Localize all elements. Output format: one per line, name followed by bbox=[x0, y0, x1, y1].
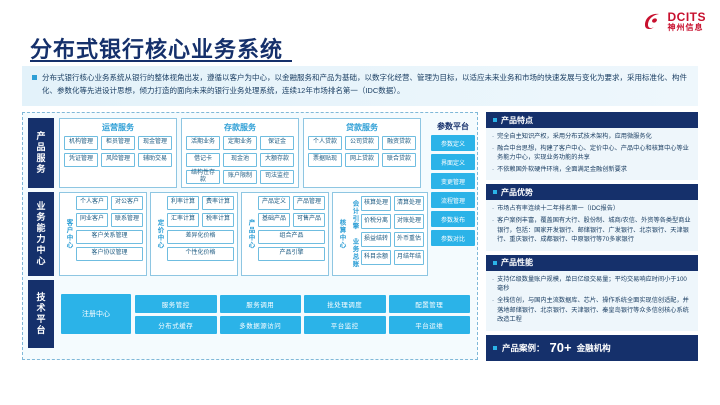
sidebar-item-product-service[interactable]: 产品服务 bbox=[28, 118, 54, 188]
swirl-logo-icon bbox=[642, 10, 664, 32]
panel-operations: 运营服务 机构管理 柜员管理 现金管理 凭证管理 风险管理 辅助交易 bbox=[59, 118, 177, 188]
case-label: 产品案例： bbox=[502, 342, 545, 354]
group-accounting-center: 核算中心 会计引擎 业务总账 核算处理 清算处理 价税分离 对账处理 损益结转 … bbox=[332, 192, 428, 276]
panel-title-deposit: 存款服务 bbox=[186, 122, 294, 133]
vtag-customer-center: 客户中心 bbox=[63, 196, 73, 272]
slide-root: DCITS 神州信息 分布式银行核心业务系统 分布式银行核心业务系统从银行的整体… bbox=[0, 0, 720, 405]
tech-chip[interactable]: 服务调用 bbox=[220, 295, 302, 313]
chip-item[interactable]: 机构管理 bbox=[64, 136, 98, 150]
vtag-accounting-center: 核算中心 bbox=[336, 196, 346, 272]
chip-item[interactable]: 个性化价格 bbox=[167, 247, 234, 261]
param-chip[interactable]: 变更管理 bbox=[431, 173, 475, 189]
sidebar-label-2: 技术平台 bbox=[35, 292, 48, 336]
customer-chip-grid: 个人客户 对公客户 同业客户 联系管理 客户关系管理 客户协议管理 bbox=[76, 196, 143, 272]
chip-item[interactable]: 定期业务 bbox=[223, 136, 257, 150]
param-chip[interactable]: 参数对比 bbox=[431, 230, 475, 246]
chip-item[interactable]: 网上贷款 bbox=[345, 153, 379, 167]
highlights-column: 产品特点 ·完全自主知识产权，采用分布式技术架构，应用微服务化 ·融合中台思想，… bbox=[486, 112, 698, 360]
chip-item[interactable]: 清算处理 bbox=[394, 196, 424, 211]
logo-en-text: DCITS bbox=[668, 11, 707, 23]
card-product-advantages: 产品优势 ·市场占有率连续十二年排名第一（IDC报告） ·客户案例丰富，覆盖国有… bbox=[486, 184, 698, 250]
chip-item[interactable]: 联合贷款 bbox=[382, 153, 416, 167]
bullet-text: 市场占有率连续十二年排名第一（IDC报告） bbox=[497, 204, 619, 214]
chip-item[interactable]: 风险管理 bbox=[101, 153, 135, 167]
chip-item[interactable]: 联系管理 bbox=[111, 213, 143, 227]
bullet-text: 融合中台思想，构建了客户中心、定价中心、产品中心和核算中心等业务能力中心，实现业… bbox=[497, 144, 692, 163]
tech-chip[interactable]: 多数据源访问 bbox=[220, 316, 302, 334]
chip-item[interactable]: 费率计算 bbox=[202, 196, 234, 210]
vtag-pricing-center: 定价中心 bbox=[154, 196, 164, 272]
panel-loan: 贷款服务 个人贷款 公司贷款 融资贷款 票据贴现 网上贷款 联合贷款 bbox=[303, 118, 421, 188]
capability-center-row: 业务能力中心 客户中心 个人客户 对公客户 同业客户 联系管理 客户关系管理 客… bbox=[28, 192, 472, 276]
card-header: 产品优势 bbox=[486, 184, 698, 200]
sidebar-label-0: 产品服务 bbox=[35, 131, 48, 175]
case-suffix: 金融机构 bbox=[577, 342, 611, 354]
bullet-square-icon bbox=[493, 261, 497, 265]
chip-item[interactable]: 价税分离 bbox=[361, 214, 391, 229]
group-product-center: 产品中心 产品定义 产品管理 基础产品 可售产品 组合产品 产品引擎 bbox=[241, 192, 329, 276]
bullet-item: ·不依赖国外软硬件环境，全面满足金融创新要求 bbox=[492, 165, 692, 175]
product-center-chip-grid: 产品定义 产品管理 基础产品 可售产品 组合产品 产品引擎 bbox=[258, 196, 325, 272]
bullet-item: ·市场占有率连续十二年排名第一（IDC报告） bbox=[492, 204, 692, 214]
chip-item[interactable]: 科目余额 bbox=[361, 250, 391, 265]
tech-chip[interactable]: 平台运维 bbox=[389, 316, 471, 334]
chip-item[interactable]: 融资贷款 bbox=[382, 136, 416, 150]
chip-item[interactable]: 基础产品 bbox=[258, 213, 290, 227]
chip-item[interactable]: 凭证管理 bbox=[64, 153, 98, 167]
tech-chip[interactable]: 平台监控 bbox=[304, 316, 386, 334]
chip-item[interactable]: 可售产品 bbox=[293, 213, 325, 227]
card-title: 产品优势 bbox=[501, 187, 533, 198]
bullet-square-icon bbox=[32, 75, 37, 80]
pricing-chip-grid: 利率计算 费率计算 汇率计算 税率计算 差异化价格 个性化价格 bbox=[167, 196, 234, 272]
dot-icon: · bbox=[492, 204, 494, 214]
chip-item[interactable]: 借记卡 bbox=[186, 153, 220, 167]
operations-chip-grid: 机构管理 柜员管理 现金管理 凭证管理 风险管理 辅助交易 bbox=[64, 136, 172, 167]
chip-item[interactable]: 产品引擎 bbox=[258, 247, 325, 261]
logo-cn-text: 神州信息 bbox=[668, 24, 707, 32]
vtag-general-ledger: 业务总账 bbox=[349, 235, 359, 271]
tech-platform-row: 技术平台 注册中心 服务管控 服务调用 批处理调度 配置管理 分布式缓存 多数据… bbox=[28, 280, 472, 348]
bullet-item: ·支持亿级数量账户规模，单日亿级交易量；平均交易响应时间小于100毫秒 bbox=[492, 275, 692, 294]
chip-item[interactable]: 汇率计算 bbox=[167, 213, 199, 227]
bullet-item: ·客户案例丰富，覆盖国有大行、股份制、城商/农信、外资等各类型商业银行，包括：国… bbox=[492, 216, 692, 245]
tech-platform-panel: 注册中心 服务管控 服务调用 批处理调度 配置管理 分布式缓存 多数据源访问 平… bbox=[59, 280, 472, 348]
card-header: 产品特点 bbox=[486, 112, 698, 128]
chip-item[interactable]: 对账处理 bbox=[394, 214, 424, 229]
chip-item[interactable]: 差异化价格 bbox=[167, 230, 234, 244]
intro-banner: 分布式银行核心业务系统从银行的整体视角出发，遵循以客户为中心，以金融服务和产品为… bbox=[22, 66, 698, 106]
case-number: 70+ bbox=[550, 340, 572, 355]
chip-item[interactable]: 辅助交易 bbox=[138, 153, 172, 167]
bullet-item: ·全栈信创，与国内主流数据库、芯片、操作系统全面实现信创适配，并落地邮储银行、北… bbox=[492, 296, 692, 325]
title-underline bbox=[30, 60, 292, 62]
chip-item[interactable]: 司法监控 bbox=[260, 170, 294, 184]
chip-item[interactable]: 客户协议管理 bbox=[76, 247, 143, 261]
panel-title-operations: 运营服务 bbox=[64, 122, 172, 133]
param-platform-title: 参数平台 bbox=[437, 121, 469, 132]
bullet-text: 全栈信创，与国内主流数据库、芯片、操作系统全面实现信创适配，并落地邮储银行、北京… bbox=[497, 296, 692, 325]
dot-icon: · bbox=[492, 296, 494, 325]
chip-item[interactable]: 月结年结 bbox=[394, 250, 424, 265]
accounting-chip-grid: 核算处理 清算处理 价税分离 对账处理 损益结转 外币重估 科目余额 月结年结 bbox=[361, 196, 424, 272]
chip-item[interactable]: 外币重估 bbox=[394, 232, 424, 247]
bullet-item: ·融合中台思想，构建了客户中心、定价中心、产品中心和核算中心等业务能力中心，实现… bbox=[492, 144, 692, 163]
card-header: 产品性能 bbox=[486, 255, 698, 271]
panel-title-loan: 贷款服务 bbox=[308, 122, 416, 133]
param-chip[interactable]: 参数发布 bbox=[431, 211, 475, 227]
card-title: 产品性能 bbox=[501, 257, 533, 268]
bullet-square-icon bbox=[493, 118, 497, 122]
card-product-features: 产品特点 ·完全自主知识产权，采用分布式技术架构，应用微服务化 ·融合中台思想，… bbox=[486, 112, 698, 180]
intro-text: 分布式银行核心业务系统从银行的整体视角出发，遵循以客户为中心，以金融服务和产品为… bbox=[42, 71, 690, 101]
deposit-chip-grid: 活期业务 定期业务 保证金 借记卡 现金池 大额存款 结构性存款 账户限制 司法… bbox=[186, 136, 294, 184]
chip-item[interactable]: 产品定义 bbox=[258, 196, 290, 210]
param-chip[interactable]: 流程管理 bbox=[431, 192, 475, 208]
register-center-block[interactable]: 注册中心 bbox=[61, 294, 131, 334]
brand-logo: DCITS 神州信息 bbox=[642, 10, 707, 32]
chip-item[interactable]: 现金管理 bbox=[138, 136, 172, 150]
dot-icon: · bbox=[492, 275, 494, 294]
bullet-square-icon bbox=[493, 346, 497, 350]
dot-icon: · bbox=[492, 165, 494, 175]
loan-chip-grid: 个人贷款 公司贷款 融资贷款 票据贴现 网上贷款 联合贷款 bbox=[308, 136, 416, 167]
card-body: ·市场占有率连续十二年排名第一（IDC报告） ·客户案例丰富，覆盖国有大行、股份… bbox=[486, 200, 698, 250]
group-customer-center: 客户中心 个人客户 对公客户 同业客户 联系管理 客户关系管理 客户协议管理 bbox=[59, 192, 147, 276]
param-chip[interactable]: 界面定义 bbox=[431, 154, 475, 170]
dot-icon: · bbox=[492, 216, 494, 245]
dot-icon: · bbox=[492, 144, 494, 163]
chip-item[interactable]: 损益结转 bbox=[361, 232, 391, 247]
sidebar-item-tech-platform[interactable]: 技术平台 bbox=[28, 280, 54, 348]
product-service-row: 产品服务 运营服务 机构管理 柜员管理 现金管理 凭证管理 风险管理 辅助交易 … bbox=[28, 118, 472, 188]
bullet-square-icon bbox=[493, 190, 497, 194]
tech-chip[interactable]: 配置管理 bbox=[389, 295, 471, 313]
param-chip[interactable]: 参数定义 bbox=[431, 135, 475, 151]
card-body: ·支持亿级数量账户规模，单日亿级交易量；平均交易响应时间小于100毫秒 ·全栈信… bbox=[486, 271, 698, 331]
case-banner: 产品案例： 70+ 金融机构 bbox=[486, 335, 698, 361]
vtag-product-center: 产品中心 bbox=[245, 196, 255, 272]
sidebar-item-capability-center[interactable]: 业务能力中心 bbox=[28, 192, 54, 276]
bullet-text: 不依赖国外软硬件环境，全面满足金融创新要求 bbox=[497, 165, 627, 175]
chip-item[interactable]: 账户限制 bbox=[223, 170, 257, 184]
chip-item[interactable]: 保证金 bbox=[260, 136, 294, 150]
chip-item[interactable]: 公司贷款 bbox=[345, 136, 379, 150]
param-platform-column: 参数平台 参数定义 界面定义 变更管理 流程管理 参数发布 参数对比 bbox=[429, 121, 477, 281]
chip-item[interactable]: 产品管理 bbox=[293, 196, 325, 210]
panel-deposit: 存款服务 活期业务 定期业务 保证金 借记卡 现金池 大额存款 结构性存款 账户… bbox=[181, 118, 299, 188]
tech-chip[interactable]: 分布式缓存 bbox=[135, 316, 217, 334]
chip-item[interactable]: 同业客户 bbox=[76, 213, 108, 227]
chip-item[interactable]: 活期业务 bbox=[186, 136, 220, 150]
chip-item[interactable]: 结构性存款 bbox=[186, 170, 220, 184]
chip-item[interactable]: 个人贷款 bbox=[308, 136, 342, 150]
card-title: 产品特点 bbox=[501, 115, 533, 126]
dot-icon: · bbox=[492, 132, 494, 142]
chip-item[interactable]: 票据贴现 bbox=[308, 153, 342, 167]
bullet-item: ·完全自主知识产权，采用分布式技术架构，应用微服务化 bbox=[492, 132, 692, 142]
chip-item[interactable]: 现金池 bbox=[223, 153, 257, 167]
chip-item[interactable]: 大额存款 bbox=[260, 153, 294, 167]
group-pricing-center: 定价中心 利率计算 费率计算 汇率计算 税率计算 差异化价格 个性化价格 bbox=[150, 192, 238, 276]
tech-chip[interactable]: 服务管控 bbox=[135, 295, 217, 313]
architecture-diagram: 产品服务 运营服务 机构管理 柜员管理 现金管理 凭证管理 风险管理 辅助交易 … bbox=[22, 112, 478, 360]
chip-item[interactable]: 组合产品 bbox=[258, 230, 325, 244]
chip-item[interactable]: 个人客户 bbox=[76, 196, 108, 210]
chip-item[interactable]: 对公客户 bbox=[111, 196, 143, 210]
bullet-text: 完全自主知识产权，采用分布式技术架构，应用微服务化 bbox=[497, 132, 652, 142]
card-product-performance: 产品性能 ·支持亿级数量账户规模，单日亿级交易量；平均交易响应时间小于100毫秒… bbox=[486, 255, 698, 331]
bullet-text: 客户案例丰富，覆盖国有大行、股份制、城商/农信、外资等各类型商业银行，包括：国家… bbox=[497, 216, 692, 245]
card-body: ·完全自主知识产权，采用分布式技术架构，应用微服务化 ·融合中台思想，构建了客户… bbox=[486, 128, 698, 180]
sidebar-label-1: 业务能力中心 bbox=[35, 201, 48, 267]
tech-chip[interactable]: 批处理调度 bbox=[304, 295, 386, 313]
tech-chip-grid: 服务管控 服务调用 批处理调度 配置管理 分布式缓存 多数据源访问 平台监控 平… bbox=[135, 295, 470, 334]
chip-item[interactable]: 税率计算 bbox=[202, 213, 234, 227]
chip-item[interactable]: 利率计算 bbox=[167, 196, 199, 210]
chip-item[interactable]: 柜员管理 bbox=[101, 136, 135, 150]
chip-item[interactable]: 核算处理 bbox=[361, 196, 391, 211]
vtag-accounting-engine: 会计引擎 bbox=[349, 197, 359, 233]
chip-item[interactable]: 客户关系管理 bbox=[76, 230, 143, 244]
bullet-text: 支持亿级数量账户规模，单日亿级交易量；平均交易响应时间小于100毫秒 bbox=[497, 275, 692, 294]
